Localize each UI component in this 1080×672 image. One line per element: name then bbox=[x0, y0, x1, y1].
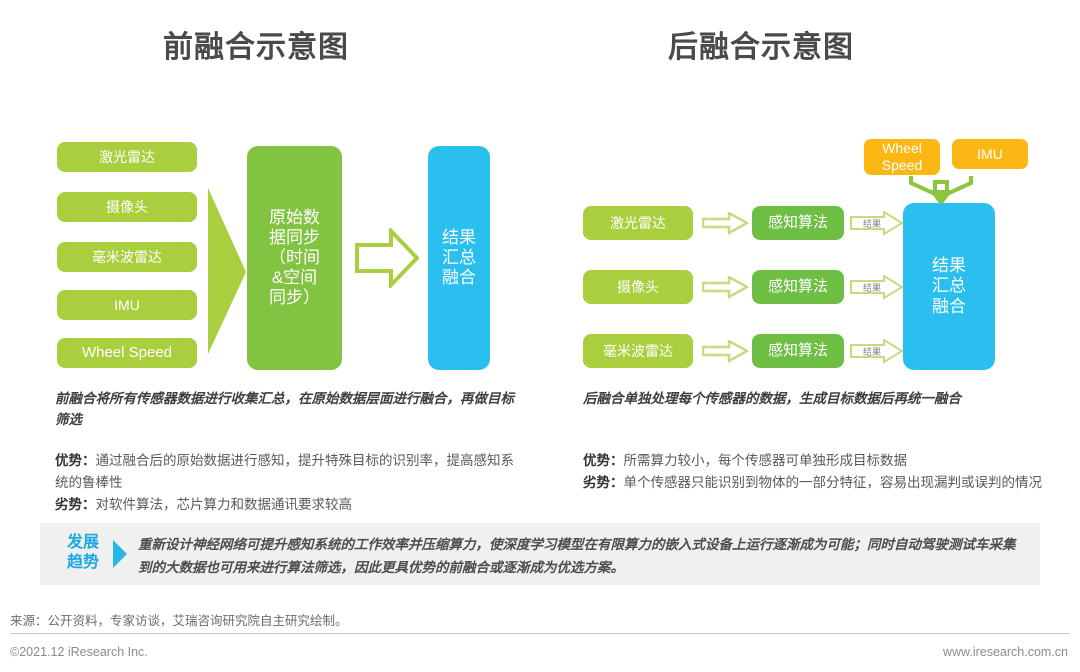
result-arrow-label-3: 结果 bbox=[855, 344, 889, 358]
sync-line-4: &空间 bbox=[272, 268, 317, 288]
arrow-right-icon-row1 bbox=[702, 212, 748, 235]
website-link[interactable]: www.iresearch.com.cn bbox=[943, 645, 1068, 659]
left-cons-label: 劣势： bbox=[55, 497, 96, 512]
arrow-right-icon-row2 bbox=[702, 276, 748, 299]
left-sensor-wheel-speed[interactable]: Wheel Speed bbox=[57, 338, 197, 368]
right-sensor-imu[interactable]: IMU bbox=[952, 139, 1028, 169]
funnel-chevron-icon bbox=[206, 186, 248, 356]
block-arrow-right-icon bbox=[355, 228, 419, 288]
right-pros-text: 所需算力较小，每个传感器可单独形成目标数据 bbox=[624, 453, 908, 468]
copyright-text: ©2021.12 iResearch Inc. bbox=[10, 645, 148, 659]
right-summary-text: 后融合单独处理每个传感器的数据，生成目标数据后再统一融合 bbox=[583, 389, 1043, 410]
result-arrow-label-2: 结果 bbox=[855, 280, 889, 294]
footer-divider bbox=[10, 633, 1070, 634]
sync-line-2: 据同步 bbox=[269, 228, 320, 248]
right-pros-label: 优势： bbox=[583, 453, 624, 468]
perception-algorithm-box-3[interactable]: 感知算法 bbox=[752, 334, 844, 368]
left-result-line-2: 汇总 bbox=[442, 248, 476, 268]
page-title-right: 后融合示意图 bbox=[668, 22, 854, 66]
right-sensor-lidar[interactable]: 激光雷达 bbox=[583, 206, 693, 240]
left-result-fusion-box[interactable]: 结果 汇总 融合 bbox=[428, 146, 490, 370]
right-result-line-3: 融合 bbox=[932, 297, 966, 317]
trend-text: 重新设计神经网络可提升感知系统的工作效率并压缩算力，使深度学习模型在有限算力的嵌… bbox=[138, 533, 1026, 579]
perception-algorithm-box-2[interactable]: 感知算法 bbox=[752, 270, 844, 304]
left-cons-text: 对软件算法，芯片算力和数据通讯要求较高 bbox=[96, 497, 353, 512]
sync-line-5: 同步） bbox=[269, 288, 320, 308]
left-result-line-3: 融合 bbox=[442, 268, 476, 288]
wheel-speed-line-1: Wheel bbox=[882, 140, 922, 157]
trend-triangle-icon bbox=[113, 540, 127, 568]
left-pros-cons: 优势：通过融合后的原始数据进行感知，提升特殊目标的识别率，提高感知系统的鲁棒性 … bbox=[55, 450, 525, 516]
right-sensor-wheel-speed[interactable]: Wheel Speed bbox=[864, 139, 940, 175]
right-cons-label: 劣势： bbox=[583, 475, 624, 490]
left-sensor-lidar[interactable]: 激光雷达 bbox=[57, 142, 197, 172]
arrow-right-icon-row3 bbox=[702, 340, 748, 363]
left-sensor-camera[interactable]: 摄像头 bbox=[57, 192, 197, 222]
perception-algorithm-box-1[interactable]: 感知算法 bbox=[752, 206, 844, 240]
slide-canvas: 前融合示意图 后融合示意图 激光雷达 摄像头 毫米波雷达 IMU Wheel S… bbox=[0, 0, 1080, 672]
right-cons-text: 单个传感器只能识别到物体的一部分特征，容易出现漏判或误判的情况 bbox=[624, 475, 1043, 490]
right-result-line-2: 汇总 bbox=[932, 276, 966, 296]
left-result-line-1: 结果 bbox=[442, 228, 476, 248]
left-pros-text: 通过融合后的原始数据进行感知，提升特殊目标的识别率，提高感知系统的鲁棒性 bbox=[55, 453, 514, 490]
right-sensor-mmwave-radar[interactable]: 毫米波雷达 bbox=[583, 334, 693, 368]
source-note: 来源：公开资料，专家访谈，艾瑞咨询研究院自主研究绘制。 bbox=[10, 610, 348, 629]
left-sensor-imu[interactable]: IMU bbox=[57, 290, 197, 320]
right-pros-cons: 优势：所需算力较小，每个传感器可单独形成目标数据 劣势：单个传感器只能识别到物体… bbox=[583, 450, 1043, 494]
sync-line-3: （时间 bbox=[269, 248, 320, 268]
left-sensor-mmwave-radar[interactable]: 毫米波雷达 bbox=[57, 242, 197, 272]
right-sensor-camera[interactable]: 摄像头 bbox=[583, 270, 693, 304]
trend-tag: 发展 趋势 bbox=[57, 533, 109, 574]
result-arrow-label-1: 结果 bbox=[855, 216, 889, 230]
page-title-left: 前融合示意图 bbox=[163, 22, 349, 66]
sync-line-1: 原始数 bbox=[269, 208, 320, 228]
left-pros-label: 优势： bbox=[55, 453, 96, 468]
right-result-line-1: 结果 bbox=[932, 256, 966, 276]
left-summary-text: 前融合将所有传感器数据进行收集汇总，在原始数据层面进行融合，再做目标筛选 bbox=[55, 389, 525, 431]
raw-data-sync-box[interactable]: 原始数 据同步 （时间 &空间 同步） bbox=[247, 146, 342, 370]
wheel-speed-line-2: Speed bbox=[882, 157, 922, 174]
trend-tag-line-2: 趋势 bbox=[57, 553, 109, 573]
right-result-fusion-box[interactable]: 结果 汇总 融合 bbox=[903, 203, 995, 370]
trend-tag-line-1: 发展 bbox=[57, 533, 109, 553]
